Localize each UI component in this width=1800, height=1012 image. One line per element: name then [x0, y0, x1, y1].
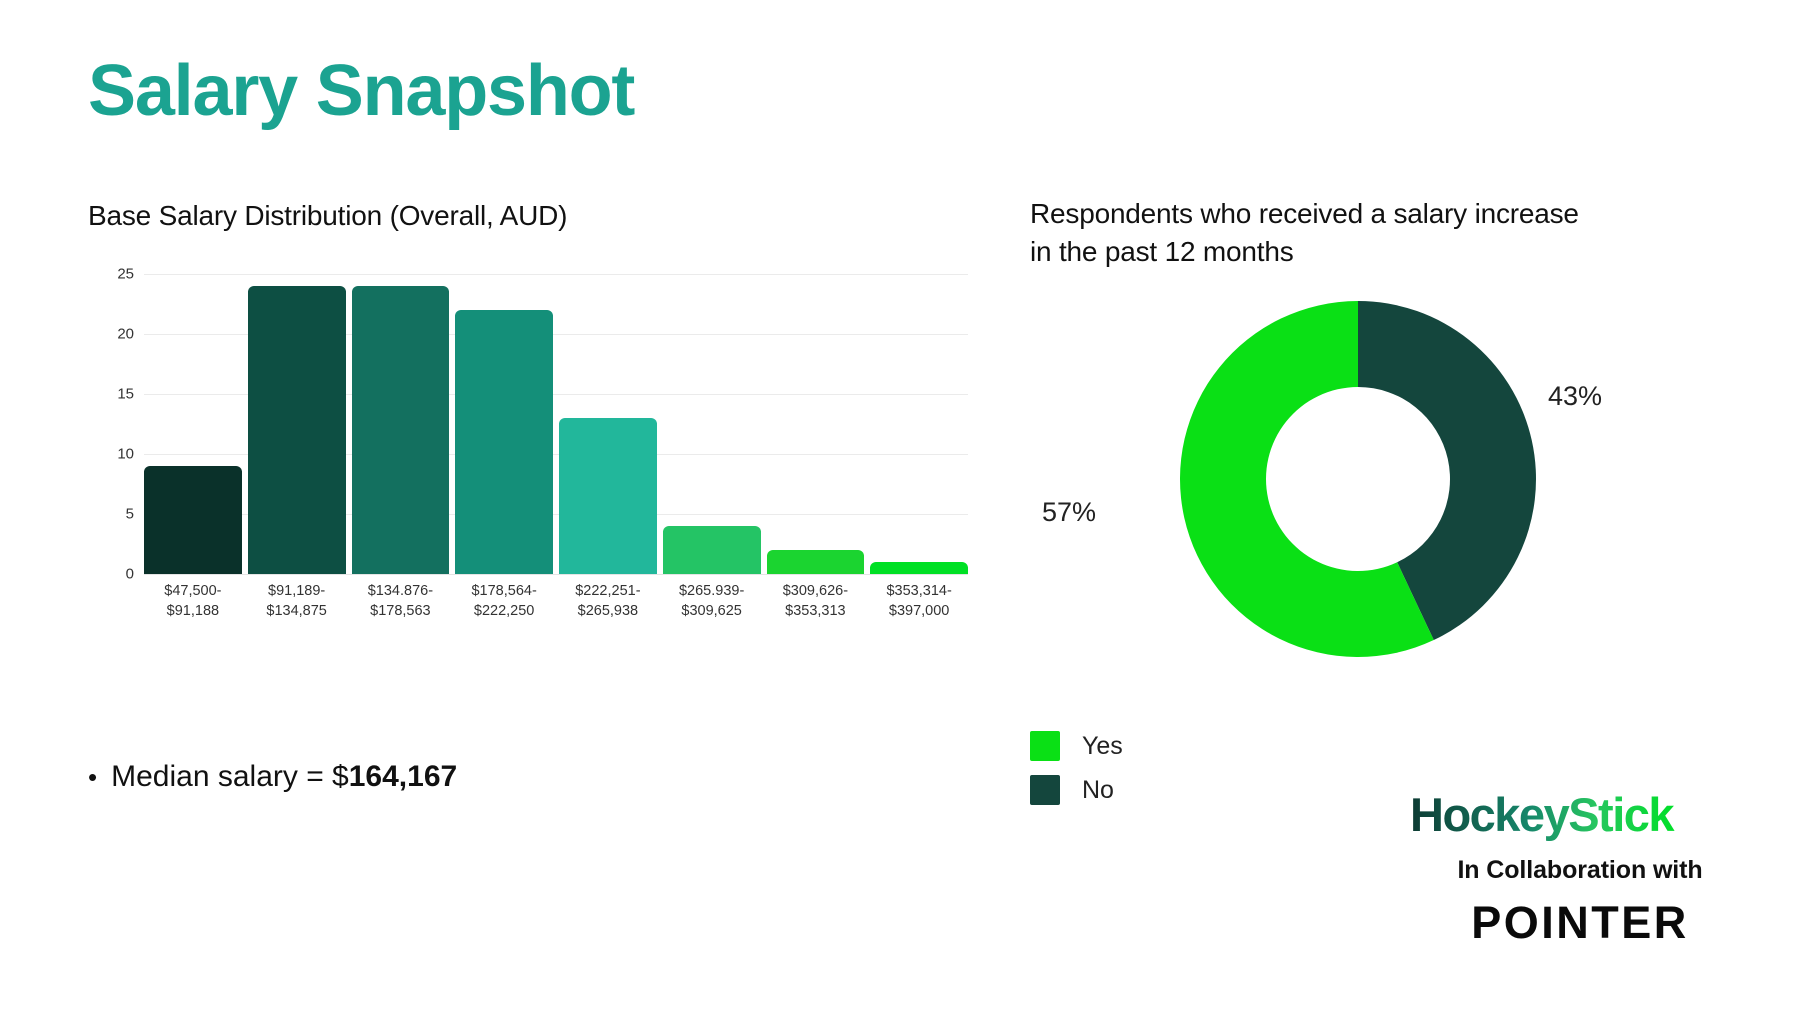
donut-percent-yes: 57%	[1042, 497, 1096, 528]
hockeystick-logo-icon: HockeyStick	[1410, 790, 1750, 842]
bullet-icon: •	[88, 764, 97, 790]
x-axis: $47,500- $91,188$91,189- $134,875$134.87…	[88, 582, 968, 621]
donut-legend: YesNo	[1030, 731, 1123, 819]
bar[interactable]	[663, 526, 761, 574]
bar[interactable]	[767, 550, 865, 574]
median-salary-label: Median salary = $	[111, 760, 349, 793]
y-axis-tick-label: 10	[117, 446, 134, 463]
svg-text:HockeyStick: HockeyStick	[1410, 790, 1675, 841]
bar-chart-plot-area: 0510152025	[88, 274, 968, 574]
legend-item[interactable]: Yes	[1030, 731, 1123, 761]
y-axis-tick-label: 20	[117, 326, 134, 343]
bar-column	[248, 274, 346, 574]
donut-percent-no: 43%	[1548, 381, 1602, 412]
branding-block: HockeyStick In Collaboration with POINTE…	[1380, 790, 1780, 949]
x-axis-tick-label: $309,626- $353,313	[767, 582, 865, 621]
legend-swatch	[1030, 775, 1060, 805]
y-axis-tick-label: 5	[126, 506, 134, 523]
bar-series	[144, 274, 968, 574]
gridline	[144, 574, 968, 575]
bar-column	[144, 274, 242, 574]
bar-column	[870, 274, 968, 574]
legend-label: No	[1082, 776, 1114, 805]
legend-item[interactable]: No	[1030, 775, 1123, 805]
bar[interactable]	[144, 466, 242, 574]
y-axis-tick-label: 25	[117, 266, 134, 283]
bar-chart-panel: Base Salary Distribution (Overall, AUD) …	[88, 200, 968, 621]
y-axis-tick-label: 0	[126, 566, 134, 583]
median-salary-note: • Median salary = $164,167	[88, 760, 457, 794]
x-axis-tick-label: $178,564- $222,250	[455, 582, 553, 621]
donut-chart-title: Respondents who received a salary increa…	[1030, 195, 1590, 271]
legend-label: Yes	[1082, 732, 1123, 761]
x-axis-tick-label: $265.939- $309,625	[663, 582, 761, 621]
x-axis-tick-label: $134.876- $178,563	[352, 582, 450, 621]
y-axis-tick-label: 15	[117, 386, 134, 403]
x-axis-tick-label: $353,314- $397,000	[870, 582, 968, 621]
bar-column	[455, 274, 553, 574]
bar[interactable]	[559, 418, 657, 574]
median-salary-value: 164,167	[349, 760, 457, 793]
page-title: Salary Snapshot	[88, 50, 634, 132]
collaboration-label: In Collaboration with	[1380, 856, 1780, 885]
x-axis-tick-label: $222,251- $265,938	[559, 582, 657, 621]
bar[interactable]	[870, 562, 968, 574]
legend-swatch	[1030, 731, 1060, 761]
bar-column	[663, 274, 761, 574]
bar-column	[559, 274, 657, 574]
bar[interactable]	[352, 286, 450, 574]
donut-chart-area: 57% 43% YesNo	[1030, 299, 1750, 679]
partner-name: POINTER	[1380, 897, 1780, 949]
bar[interactable]	[248, 286, 346, 574]
bar-column	[767, 274, 865, 574]
bar[interactable]	[455, 310, 553, 574]
x-axis-tick-label: $47,500- $91,188	[144, 582, 242, 621]
x-axis-tick-label: $91,189- $134,875	[248, 582, 346, 621]
bar-chart-title: Base Salary Distribution (Overall, AUD)	[88, 200, 968, 232]
median-salary-text: Median salary = $164,167	[111, 760, 457, 794]
bar-column	[352, 274, 450, 574]
donut-chart-panel: Respondents who received a salary increa…	[1030, 195, 1750, 679]
donut-chart-svg	[1178, 299, 1538, 659]
